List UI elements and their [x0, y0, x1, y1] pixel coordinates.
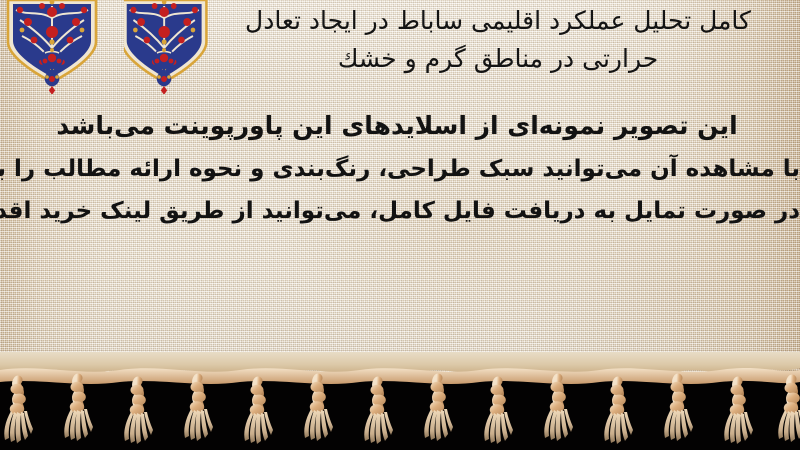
body-text: این تصویر نمونه‌ای از اسلایدهای این پاور…	[0, 104, 800, 232]
slide-root: كامل تحليل عملکرد اقليمی ساباط در ايجاد …	[0, 0, 800, 450]
page-title: كامل تحليل عملکرد اقليمی ساباط در ايجاد …	[218, 2, 778, 78]
persian-carpet-medallion-icon-left	[6, 0, 102, 94]
persian-carpet-medallion-icon-right	[124, 0, 220, 94]
knotted-tassel-fringe	[0, 358, 800, 450]
body-line-2: با مشاهده آن می‌توانید سبک طراحی، رنگ‌بن…	[0, 148, 800, 190]
body-line-3: در صورت تمایل به دریافت فایل کامل، می‌تو…	[0, 190, 800, 232]
body-line-1: این تصویر نمونه‌ای از اسلایدهای این پاور…	[0, 104, 800, 148]
title-line-2: حرارتی در مناطق گرم و خشك	[218, 40, 778, 78]
title-line-1: كامل تحليل عملکرد اقليمی ساباط در ايجاد …	[218, 2, 778, 40]
